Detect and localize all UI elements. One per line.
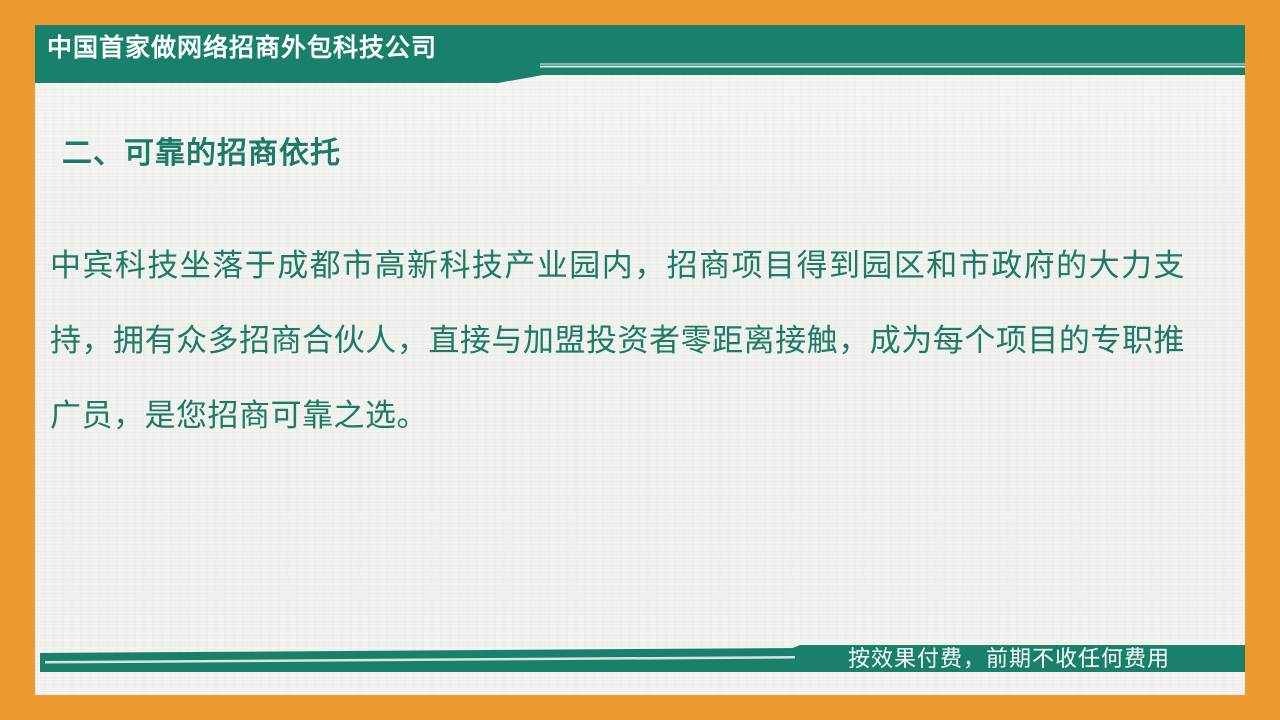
page-title: 二、可靠的招商依托 bbox=[62, 136, 341, 172]
footer-tagline: 按效果付费，前期不收任何费用 bbox=[848, 648, 1170, 670]
slide-canvas: 中国首家做网络招商外包科技公司 二、可靠的招商依托 中宾科技坐落于成都市高新科技… bbox=[0, 0, 1280, 720]
body-paragraph: 中宾科技坐落于成都市高新科技产业园内，招商项目得到园区和市政府的大力支持，拥有众… bbox=[50, 228, 1185, 453]
header-badge-text: 中国首家做网络招商外包科技公司 bbox=[47, 36, 437, 61]
